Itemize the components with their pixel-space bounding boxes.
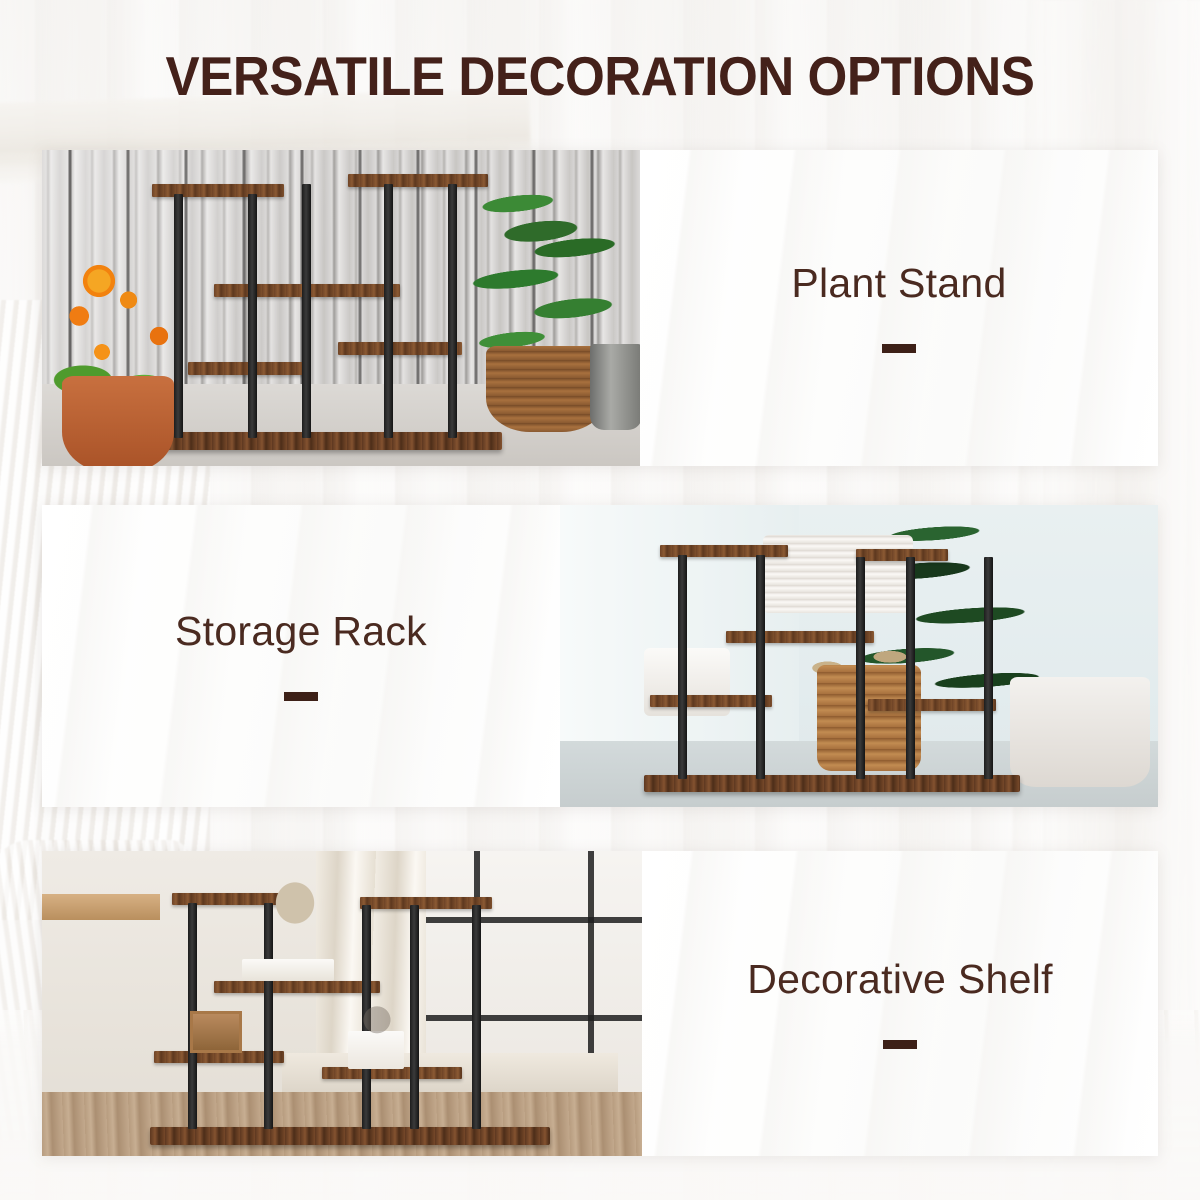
page-title: VERSATILE DECORATION OPTIONS [42,44,1158,108]
feature-row-decorative-shelf: Decorative Shelf [42,851,1158,1156]
storage-rack [660,527,1040,799]
decor-vase [268,867,322,925]
caption-pane-decorative-shelf: Decorative Shelf [642,851,1158,1156]
promo-banner: VERSATILE DECORATION OPTIONS [0,0,1200,1200]
caption-dash-decorative-shelf [883,1040,917,1049]
caption-label-storage-rack: Storage Rack [175,611,427,652]
feature-row-storage-rack: Storage Rack [42,505,1158,807]
scene-laundry-room [560,505,1158,807]
photo-decorative-shelf [42,851,642,1156]
photo-storage-rack [560,505,1158,807]
metal-bucket [590,344,640,430]
caption-label-plant-stand: Plant Stand [791,263,1006,304]
decor-glass-cloche [358,997,396,1035]
decor-book-stack [348,1031,404,1069]
scene-outdoor-patio [42,150,640,466]
caption-pane-storage-rack: Storage Rack [42,505,560,807]
decor-picture-frame [190,1011,242,1053]
decor-books [242,959,334,981]
terracotta-pot [62,376,174,466]
feature-row-plant-stand: Plant Stand [42,150,1158,466]
scene-living-room [42,851,642,1156]
decorative-shelf-rack [172,871,572,1153]
caption-pane-plant-stand: Plant Stand [640,150,1158,466]
caption-dash-storage-rack [284,692,318,701]
caption-label-decorative-shelf: Decorative Shelf [747,959,1053,1000]
caption-dash-plant-stand [882,344,916,353]
wall-shelf [42,894,160,920]
photo-plant-stand [42,150,640,466]
